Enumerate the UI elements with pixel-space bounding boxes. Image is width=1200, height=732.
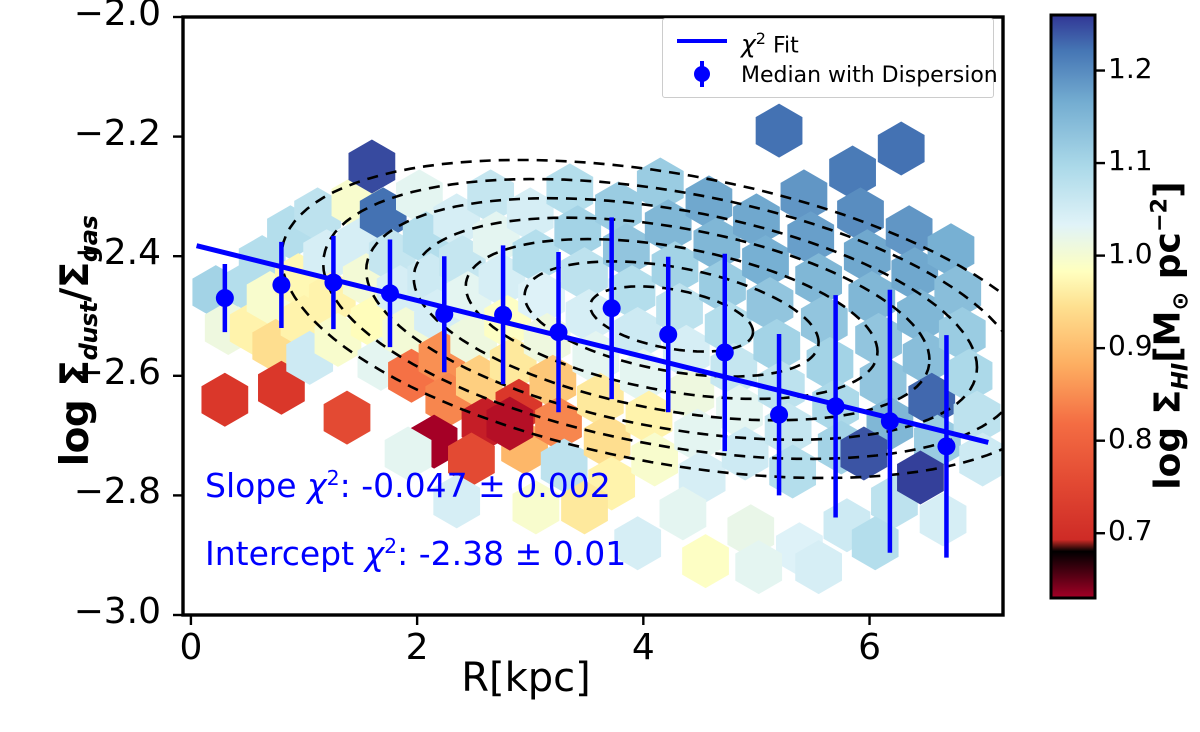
y-tick-label: −2.0 [1,0,161,34]
median-point [659,326,677,344]
hexbin-cell [878,122,925,176]
median-point [494,306,512,324]
legend: χ2 Fit Median with Dispersion [662,18,994,98]
hexbin-cell [756,104,803,158]
hexbin-cell [682,534,729,588]
hexbin-cell [201,373,248,427]
colorbar-tick-label: 1.1 [1108,144,1188,177]
x-tick-label: 0 [161,627,221,668]
median-point [381,284,399,302]
hexbin-cell [324,391,371,445]
colorbar-tick-label: 0.7 [1108,514,1188,547]
colorbar-tick-label: 1.0 [1108,237,1188,270]
median-point [216,289,234,307]
median-point [435,305,453,323]
y-tick-label: −2.2 [1,113,161,154]
median-point [770,406,788,424]
y-tick-label: −2.6 [1,352,161,393]
hexbin-cell [769,444,816,498]
hexbin-cell [631,433,678,487]
median-point [716,343,734,361]
median-point [937,437,955,455]
hexbin-cell [595,181,642,235]
legend-label-median: Median with Dispersion [741,63,998,88]
x-tick-label: 6 [840,627,900,668]
colorbar [1051,15,1095,598]
hexbin-cell [829,145,876,199]
y-tick-label: −2.4 [1,232,161,273]
y-tick-label: −2.8 [1,471,161,512]
annotation-intercept: Intercept χ2: -2.38 ± 0.01 [205,534,626,573]
legend-errorbar-swatch [694,61,710,87]
colorbar-tick-label: 0.9 [1108,329,1188,362]
x-axis-label: R[kpc] [183,655,869,701]
y-tick-label: −3.0 [1,591,161,632]
x-tick-label: 2 [387,627,447,668]
x-tick-label: 4 [613,627,673,668]
scatter-plot-canvas [0,0,1200,732]
colorbar-tick-label: 1.2 [1108,52,1188,85]
hexbin-cell [722,427,769,481]
median-point [550,323,568,341]
hexbin-layer [192,104,1006,595]
median-point [603,299,621,317]
median-point [881,412,899,430]
annotation-slope: Slope χ2: -0.047 ± 0.002 [205,466,611,505]
colorbar-tick-label: 0.8 [1108,422,1188,455]
median-point [272,276,290,294]
legend-label-fit: χ2 Fit [741,29,799,58]
median-point [324,274,342,292]
median-point [827,397,845,415]
